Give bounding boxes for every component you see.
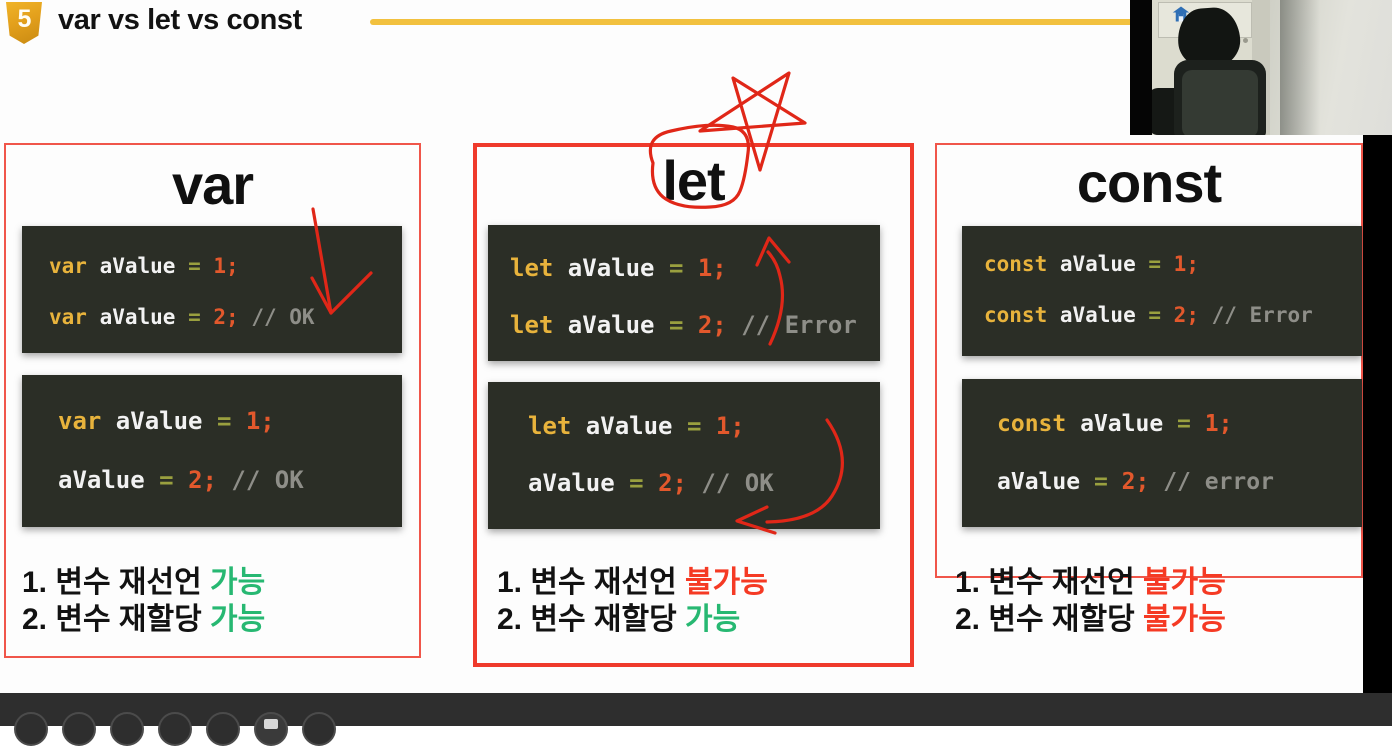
code-operator: = bbox=[217, 407, 246, 435]
bullet-text: 2. 변수 재할당 bbox=[955, 603, 1143, 636]
page-title: var vs let vs const bbox=[58, 4, 302, 37]
code-operator: = bbox=[1148, 252, 1173, 276]
code-identifier: aValue bbox=[1080, 411, 1177, 437]
let-bullet-list: 1. 변수 재선언 불가능 2. 변수 재할당 가능 bbox=[497, 565, 768, 638]
code-keyword: let bbox=[510, 254, 568, 282]
code-identifier: aValue bbox=[1060, 303, 1149, 327]
code-value: 2; bbox=[1174, 303, 1212, 327]
code-operator: = bbox=[1177, 411, 1205, 437]
code-identifier: aValue bbox=[586, 412, 687, 440]
bullet-text: 1. 변수 재선언 bbox=[22, 566, 210, 599]
code-line: var aValue = 1; bbox=[49, 254, 402, 278]
code-value: 2; bbox=[1122, 469, 1164, 495]
code-comment: // error bbox=[1163, 469, 1274, 495]
code-identifier: aValue bbox=[100, 305, 189, 329]
const-code-block-reassign: const aValue = 1; aValue = 2; // error bbox=[962, 379, 1362, 527]
list-item: 1. 변수 재선언 가능 bbox=[22, 565, 265, 602]
code-identifier: aValue bbox=[528, 469, 629, 497]
meeting-toolbar bbox=[0, 693, 1392, 726]
code-value: 1; bbox=[213, 254, 238, 278]
webcam-left-edge bbox=[1130, 0, 1152, 135]
const-code-block-redeclare: const aValue = 1; const aValue = 2; // E… bbox=[962, 226, 1362, 356]
shield-number: 5 bbox=[6, 5, 42, 34]
list-item: 2. 변수 재할당 불가능 bbox=[955, 602, 1226, 639]
code-line: let aValue = 1; bbox=[528, 412, 880, 440]
code-operator: = bbox=[629, 469, 658, 497]
toolbar-button-mic[interactable] bbox=[14, 712, 48, 746]
code-keyword: var bbox=[49, 305, 100, 329]
bullet-text: 1. 변수 재선언 bbox=[955, 566, 1143, 599]
code-keyword: let bbox=[510, 311, 568, 339]
code-operator: = bbox=[1148, 303, 1173, 327]
bullet-text: 2. 변수 재할당 bbox=[497, 603, 685, 636]
code-operator: = bbox=[687, 412, 716, 440]
toolbar-button-camera[interactable] bbox=[62, 712, 96, 746]
code-operator: = bbox=[188, 254, 213, 278]
code-line: const aValue = 1; bbox=[997, 411, 1362, 437]
code-line: aValue = 2; // error bbox=[997, 469, 1362, 495]
webcam-wall-shadow bbox=[1280, 0, 1320, 135]
list-item: 2. 변수 재할당 가능 bbox=[22, 602, 265, 639]
code-line: const aValue = 1; bbox=[984, 252, 1362, 276]
code-identifier: aValue bbox=[1060, 252, 1149, 276]
code-identifier: aValue bbox=[568, 254, 669, 282]
code-operator: = bbox=[188, 305, 213, 329]
code-line: aValue = 2; // OK bbox=[58, 466, 402, 494]
code-value: 1; bbox=[246, 407, 275, 435]
code-comment: // OK bbox=[231, 466, 303, 494]
code-operator: = bbox=[1094, 469, 1122, 495]
toolbar-button-share[interactable] bbox=[110, 712, 144, 746]
code-line: aValue = 2; // OK bbox=[528, 469, 880, 497]
code-comment: // OK bbox=[251, 305, 314, 329]
status-badge: 불가능 bbox=[685, 566, 768, 599]
code-value: 2; bbox=[698, 311, 741, 339]
code-line: let aValue = 2; // Error bbox=[510, 311, 880, 339]
column-const-heading: const bbox=[935, 155, 1363, 211]
code-comment: // Error bbox=[1212, 303, 1313, 327]
toolbar-button-more[interactable] bbox=[302, 712, 336, 746]
code-comment: // OK bbox=[701, 469, 773, 497]
var-bullet-list: 1. 변수 재선언 가능 2. 변수 재할당 가능 bbox=[22, 565, 265, 638]
webcam-panel-screw bbox=[1243, 38, 1248, 43]
code-line: var aValue = 2; // OK bbox=[49, 305, 402, 329]
code-value: 1; bbox=[1205, 411, 1233, 437]
var-code-block-redeclare: var aValue = 1; var aValue = 2; // OK bbox=[22, 226, 402, 353]
bullet-text: 2. 변수 재할당 bbox=[22, 603, 210, 636]
code-keyword: let bbox=[528, 412, 586, 440]
toolbar-button-record[interactable] bbox=[158, 712, 192, 746]
code-value: 1; bbox=[716, 412, 745, 440]
code-identifier: aValue bbox=[116, 407, 217, 435]
status-badge: 불가능 bbox=[1143, 603, 1226, 636]
code-keyword: const bbox=[997, 411, 1080, 437]
var-code-block-reassign: var aValue = 1; aValue = 2; // OK bbox=[22, 375, 402, 527]
code-line: const aValue = 2; // Error bbox=[984, 303, 1362, 327]
code-keyword: const bbox=[984, 252, 1060, 276]
code-line: var aValue = 1; bbox=[58, 407, 402, 435]
presentation-slide: 5 var vs let vs const var var aValue = 1… bbox=[0, 0, 1392, 726]
code-value: 1; bbox=[1174, 252, 1199, 276]
code-identifier: aValue bbox=[58, 466, 159, 494]
bullet-text: 1. 변수 재선언 bbox=[497, 566, 685, 599]
code-comment: // Error bbox=[741, 311, 857, 339]
html5-shield-icon: 5 bbox=[6, 2, 42, 44]
code-value: 2; bbox=[188, 466, 231, 494]
present-glyph-icon bbox=[264, 719, 278, 729]
code-operator: = bbox=[159, 466, 188, 494]
code-keyword: const bbox=[984, 303, 1060, 327]
column-let-heading: let bbox=[473, 153, 914, 209]
list-item: 1. 변수 재선언 불가능 bbox=[955, 565, 1226, 602]
let-code-block-reassign: let aValue = 1; aValue = 2; // OK bbox=[488, 382, 880, 529]
toolbar-button-present[interactable] bbox=[254, 712, 288, 746]
status-badge: 불가능 bbox=[1143, 566, 1226, 599]
code-keyword: var bbox=[58, 407, 116, 435]
code-identifier: aValue bbox=[997, 469, 1094, 495]
const-bullet-list: 1. 변수 재선언 불가능 2. 변수 재할당 불가능 bbox=[955, 565, 1226, 638]
toolbar-button-chat[interactable] bbox=[206, 712, 240, 746]
code-value: 2; bbox=[658, 469, 701, 497]
list-item: 1. 변수 재선언 불가능 bbox=[497, 565, 768, 602]
code-keyword: var bbox=[49, 254, 100, 278]
code-value: 1; bbox=[698, 254, 727, 282]
code-value: 2; bbox=[213, 305, 251, 329]
list-item: 2. 변수 재할당 가능 bbox=[497, 602, 768, 639]
let-code-block-redeclare: let aValue = 1; let aValue = 2; // Error bbox=[488, 225, 880, 361]
webcam-video-feed[interactable] bbox=[1130, 0, 1392, 135]
code-operator: = bbox=[669, 254, 698, 282]
status-badge: 가능 bbox=[685, 603, 740, 636]
status-badge: 가능 bbox=[210, 603, 265, 636]
column-var-heading: var bbox=[4, 157, 421, 213]
code-operator: = bbox=[669, 311, 698, 339]
status-badge: 가능 bbox=[210, 566, 265, 599]
code-line: let aValue = 1; bbox=[510, 254, 880, 282]
code-identifier: aValue bbox=[100, 254, 189, 278]
webcam-chair-back bbox=[1174, 60, 1266, 135]
code-identifier: aValue bbox=[568, 311, 669, 339]
